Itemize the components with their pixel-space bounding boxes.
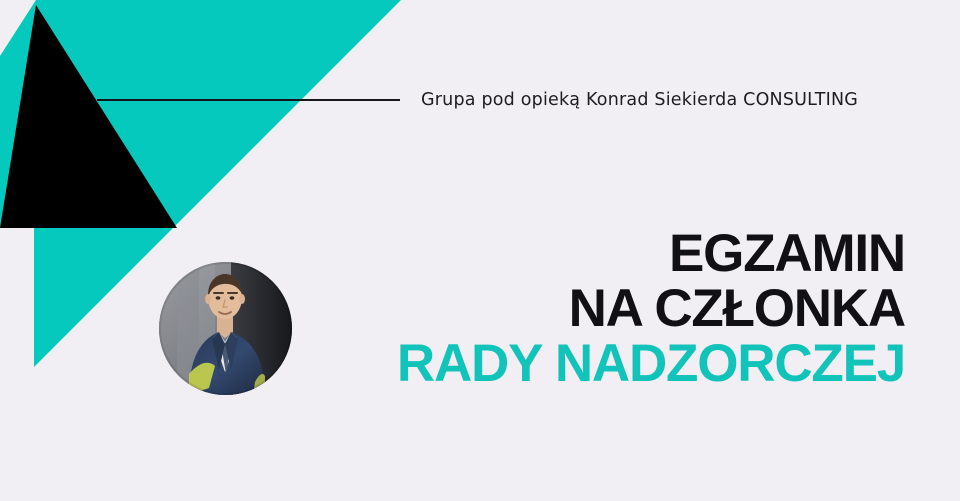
- headline-line-1: EGZAMIN: [397, 226, 905, 281]
- lower-left-background-wedge: [0, 228, 34, 367]
- avatar: [159, 262, 292, 395]
- page-title: EGZAMIN NA CZŁONKA RADY NADZORCZEJ: [397, 226, 905, 391]
- headline-line-3: RADY NADZORCZEJ: [397, 336, 905, 391]
- divider-rule: [97, 99, 400, 101]
- headline-line-2: NA CZŁONKA: [397, 281, 905, 336]
- kicker-text: Grupa pod opieką Konrad Siekierda CONSUL…: [421, 90, 858, 110]
- portrait-illustration: [159, 262, 292, 395]
- promo-banner: Grupa pod opieką Konrad Siekierda CONSUL…: [0, 0, 960, 501]
